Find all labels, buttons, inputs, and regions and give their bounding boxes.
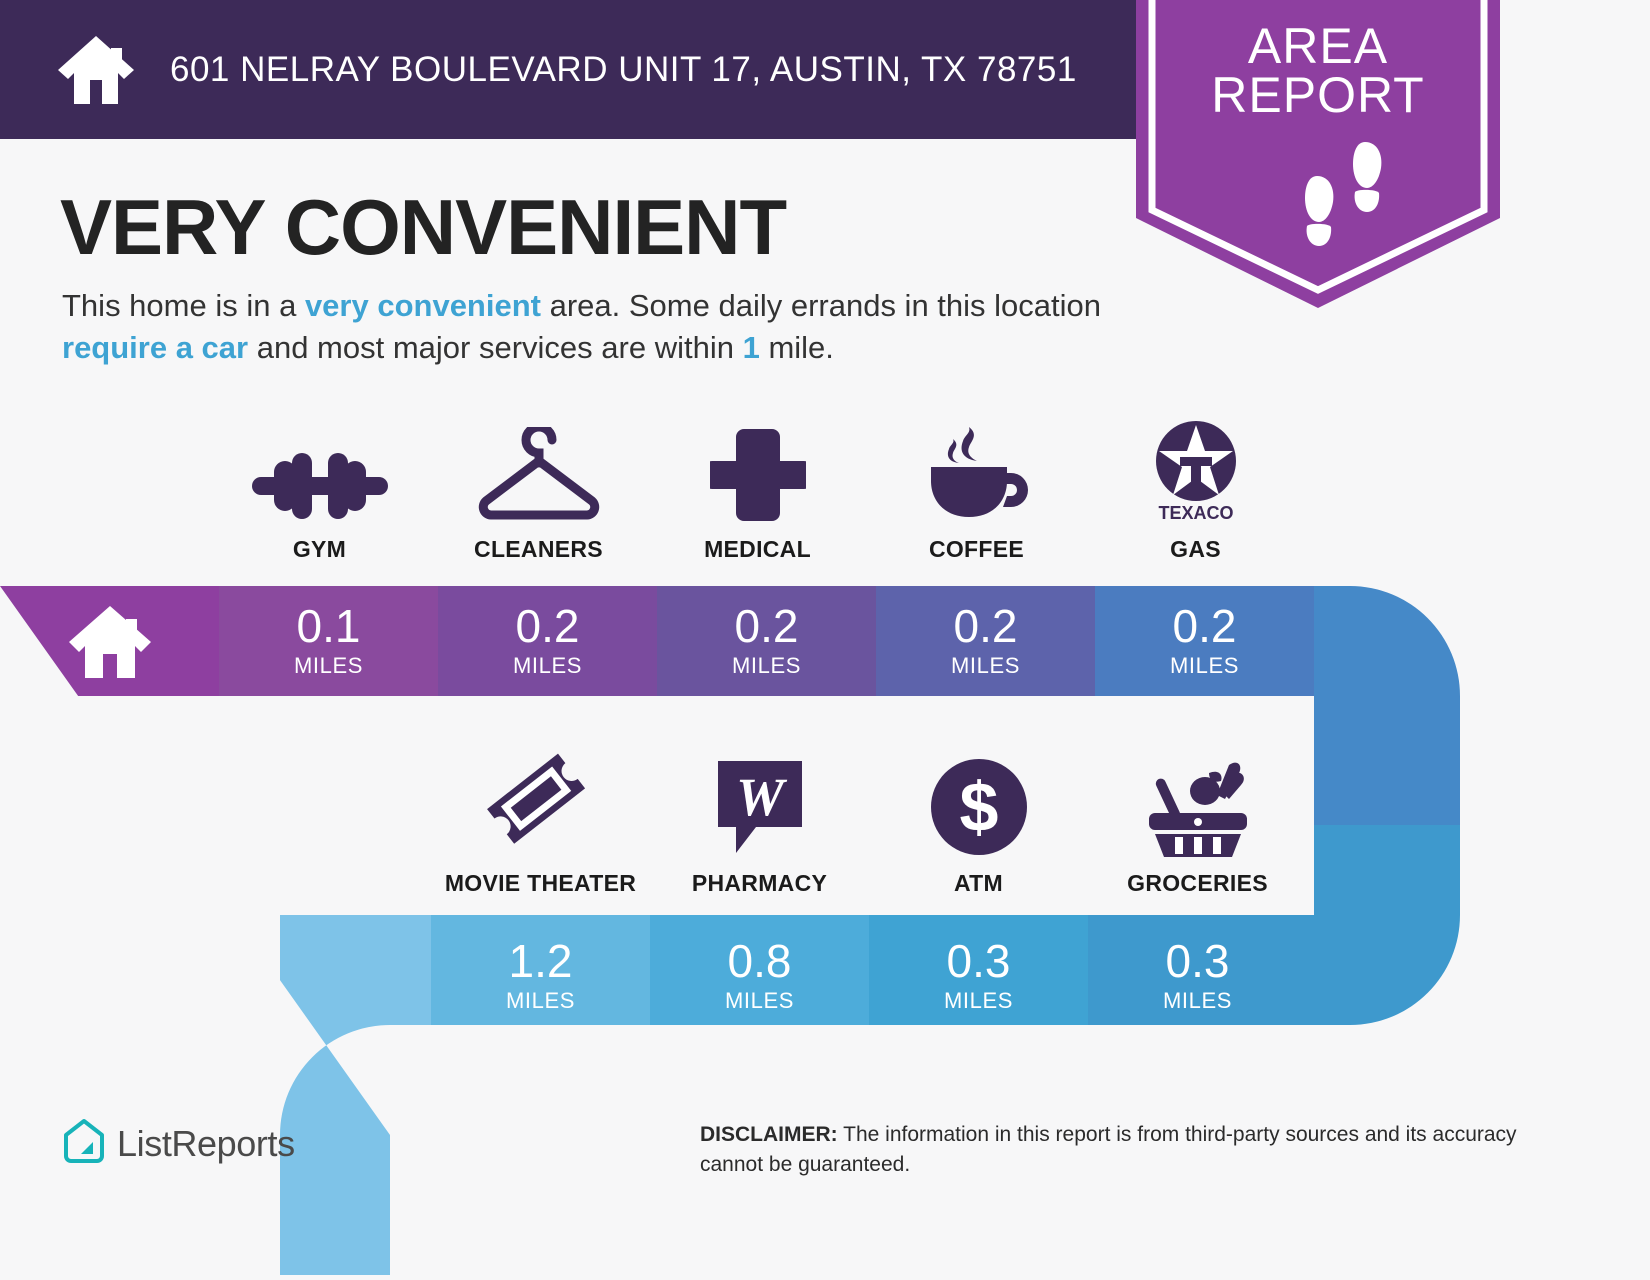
ribbon-seg-right-lower <box>1314 825 1554 1025</box>
summary-part-4: mile. <box>760 330 834 365</box>
value-number: 0.2 <box>735 603 799 649</box>
summary-part-2: area. Some daily errands in this locatio… <box>541 288 1101 323</box>
value-unit: MILES <box>951 653 1020 679</box>
value-number: 1.2 <box>509 938 573 984</box>
category-cleaners: CLEANERS <box>429 418 648 563</box>
header-bar: 601 NELRAY BOULEVARD UNIT 17, AUSTIN, TX… <box>0 0 1176 139</box>
category-label: GYM <box>293 536 346 563</box>
value-movie-theater: 1.2 MILES <box>431 921 650 1031</box>
coffee-cup-icon <box>925 418 1029 523</box>
category-movie-theater: MOVIE THEATER <box>431 752 650 897</box>
value-medical: 0.2 MILES <box>657 586 876 696</box>
ribbon-seg-left-curve <box>280 915 431 1025</box>
value-number: 0.3 <box>1166 938 1230 984</box>
value-unit: MILES <box>1163 988 1232 1014</box>
summary-highlight-3: 1 <box>743 330 760 365</box>
svg-text:TEXACO: TEXACO <box>1158 503 1233 523</box>
category-coffee: COFFEE <box>867 418 1086 563</box>
value-unit: MILES <box>732 653 801 679</box>
category-label: MEDICAL <box>704 536 811 563</box>
walgreens-w-icon: W <box>714 752 806 857</box>
value-gas: 0.2 MILES <box>1095 586 1314 696</box>
listreports-brand-text: ListReports <box>117 1123 295 1165</box>
area-report-badge: AREA REPORT <box>1118 0 1518 310</box>
grocery-basket-icon <box>1143 752 1253 857</box>
summary-highlight-2: require a car <box>62 330 248 365</box>
value-atm: 0.3 MILES <box>869 921 1088 1031</box>
value-unit: MILES <box>506 988 575 1014</box>
movie-ticket-icon <box>486 752 596 857</box>
category-gym: GYM <box>210 418 429 563</box>
category-atm: $ ATM <box>869 752 1088 897</box>
category-label: MOVIE THEATER <box>445 870 636 897</box>
badge-line-1: AREA <box>1118 22 1518 71</box>
svg-text:W: W <box>735 767 787 827</box>
row1-value-group: 0.1 MILES 0.2 MILES 0.2 MILES 0.2 MILES … <box>219 586 1314 696</box>
dollar-coin-icon: $ <box>929 752 1029 857</box>
value-number: 0.1 <box>297 603 361 649</box>
value-groceries: 0.3 MILES <box>1088 921 1307 1031</box>
value-coffee: 0.2 MILES <box>876 586 1095 696</box>
ribbon-seg-corner-top <box>1314 586 1554 696</box>
category-label: CLEANERS <box>474 536 603 563</box>
value-unit: MILES <box>725 988 794 1014</box>
summary-part-3: and most major services are within <box>248 330 742 365</box>
value-unit: MILES <box>1170 653 1239 679</box>
svg-text:$: $ <box>959 768 998 846</box>
value-number: 0.2 <box>954 603 1018 649</box>
badge-line-2: REPORT <box>1118 71 1518 120</box>
ribbon-seg-right-upper <box>1314 696 1554 825</box>
hanger-icon <box>477 418 601 523</box>
row2-value-group: 1.2 MILES 0.8 MILES 0.3 MILES 0.3 MILES <box>431 921 1307 1031</box>
category-label: GAS <box>1170 536 1221 563</box>
texaco-star-icon: TEXACO <box>1148 418 1244 523</box>
category-groceries: GROCERIES <box>1088 752 1307 897</box>
value-gym: 0.1 MILES <box>219 586 438 696</box>
category-gas: TEXACO GAS <box>1086 418 1305 563</box>
home-icon <box>56 34 136 106</box>
summary-description: This home is in a very convenient area. … <box>62 285 1122 369</box>
value-number: 0.3 <box>947 938 1011 984</box>
disclaimer-label: DISCLAIMER: <box>700 1123 838 1146</box>
row2-icon-group: MOVIE THEATER W PHARMACY $ ATM <box>431 752 1307 897</box>
value-unit: MILES <box>513 653 582 679</box>
value-pharmacy: 0.8 MILES <box>650 921 869 1031</box>
value-unit: MILES <box>944 988 1013 1014</box>
value-unit: MILES <box>294 653 363 679</box>
category-label: COFFEE <box>929 536 1024 563</box>
listreports-house-icon <box>63 1118 105 1169</box>
value-cleaners: 0.2 MILES <box>438 586 657 696</box>
value-number: 0.2 <box>516 603 580 649</box>
property-address: 601 NELRAY BOULEVARD UNIT 17, AUSTIN, TX… <box>170 50 1077 90</box>
summary-highlight-1: very convenient <box>305 288 541 323</box>
dumbbell-icon <box>252 418 388 523</box>
category-label: GROCERIES <box>1127 870 1268 897</box>
row1-icon-group: GYM CLEANERS MEDICAL <box>210 418 1305 563</box>
category-label: PHARMACY <box>692 870 827 897</box>
listreports-logo: ListReports <box>63 1118 295 1169</box>
summary-part-1: This home is in a <box>62 288 305 323</box>
value-number: 0.2 <box>1173 603 1237 649</box>
medical-cross-icon <box>710 418 806 523</box>
category-label: ATM <box>954 870 1003 897</box>
category-medical: MEDICAL <box>648 418 867 563</box>
value-number: 0.8 <box>728 938 792 984</box>
disclaimer: DISCLAIMER: The information in this repo… <box>700 1120 1520 1180</box>
category-pharmacy: W PHARMACY <box>650 752 869 897</box>
badge-title: AREA REPORT <box>1118 22 1518 120</box>
page-title: VERY CONVENIENT <box>60 182 786 273</box>
home-marker <box>0 586 219 696</box>
